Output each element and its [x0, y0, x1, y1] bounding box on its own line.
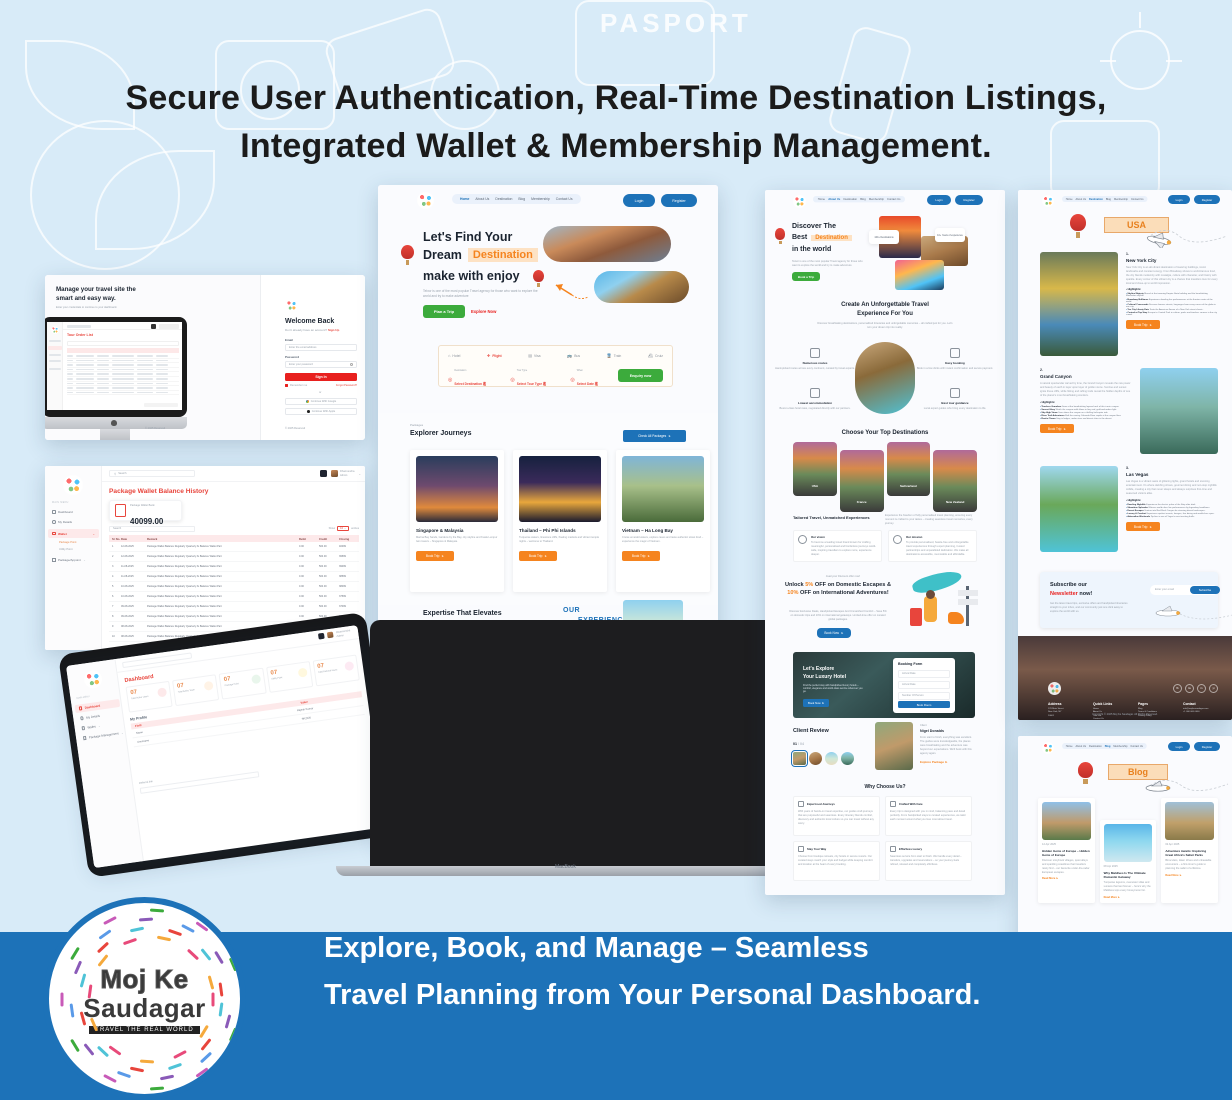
admin-order-list-screen: Tour Order List: [47, 322, 182, 410]
cell-debit: 0.00: [299, 555, 319, 558]
feature-title: Best tour guidance: [915, 401, 995, 405]
review-thumbnail[interactable]: [825, 752, 838, 765]
nav-item-about-us[interactable]: About Us: [1076, 745, 1086, 748]
cell-remark: Package Wallet Balance Regularly Quarter…: [147, 565, 299, 568]
blog-card-title: Why Maldives Is The Ultimate Romantic Ge…: [1104, 871, 1153, 879]
expertise-badge-label-line-1: OUR: [563, 607, 580, 614]
about-booking-form-submit[interactable]: Book Room: [898, 701, 950, 708]
about-destination-card[interactable]: Switzerland: [887, 442, 931, 496]
feature-desc: Book in a few clicks with instant confir…: [915, 367, 995, 371]
login-submit-button[interactable]: Sign In: [285, 373, 357, 381]
usa-entry-button[interactable]: Book Trip➤: [1040, 424, 1074, 433]
search-field-value: Select Destination 襤: [454, 382, 486, 386]
cell-credit: 500.00: [319, 595, 339, 598]
yt-icon[interactable]: yt: [1209, 684, 1218, 693]
usa-highlight-value: Gaze at the breathtaking layered rock of…: [1062, 406, 1119, 408]
login-forgot-link[interactable]: Forgot Password?: [336, 384, 357, 388]
usa-entry-button[interactable]: Book Trip➤: [1126, 522, 1160, 531]
login-password-input[interactable]: Enter your password: [285, 361, 357, 368]
tablet-referral-label: Referral link: [139, 780, 153, 786]
cell-date: 11-08-2025: [121, 565, 147, 568]
blog-card-cta[interactable]: Read More ➤: [1165, 874, 1214, 877]
blog-card[interactable]: 08 Apr 2025Why Maldives Is The Ultimate …: [1100, 820, 1157, 903]
blog-card-date: 02 Apr 2025: [1165, 843, 1214, 847]
booking-form-field-placeholder: Arrival Date: [902, 672, 916, 676]
cell-date: 12-08-2025: [121, 555, 147, 558]
admin-sidebar-item[interactable]: [49, 354, 61, 356]
nav-item-destination[interactable]: Destination: [495, 197, 512, 201]
blog-card-desc: Turquoise lagoons, overwater villas and …: [1104, 881, 1153, 893]
nav-item-membership[interactable]: Membership: [531, 197, 550, 201]
footer-column: Address123 Main StreetNew York, NY10001: [1048, 702, 1083, 720]
usa-highlight-key: Timeless Grandeur: [1041, 406, 1061, 408]
about-review-cta[interactable]: Explore Package ➤: [920, 760, 947, 764]
search-tab-flight[interactable]: ✈Flight: [487, 353, 502, 358]
usa-highlight-value: Venture into Red Rock Canyon for stunnin…: [1144, 510, 1205, 512]
why-choose-card: Expert-Led JourneysWith years of hands-o…: [793, 796, 880, 836]
headline-line-2: Integrated Wallet & Membership Managemen…: [0, 122, 1232, 170]
about-why-title: Why Choose Us?: [765, 784, 1005, 790]
usa-highlight-item: ▪ Broadway Brilliance Experience dazzlin…: [1126, 299, 1218, 303]
about-offer-title-c: OFF on International Adventures!: [800, 590, 889, 596]
login-button[interactable]: Login: [1168, 742, 1190, 751]
login-password-placeholder: Enter your password: [289, 363, 313, 367]
about-booking-form: Booking Form Arrival DateArrival DateNum…: [893, 658, 955, 713]
hero-secondary-cta[interactable]: Explore Now: [471, 309, 496, 314]
package-card-button[interactable]: Book Trip➤: [416, 551, 454, 561]
wallet-sidebar-item-package-management[interactable]: Package/Appoint ⌄: [52, 558, 86, 562]
hot-air-balloon-icon: [533, 270, 544, 287]
usa-entry-desc: A natural spectacular carved by time, th…: [1040, 382, 1132, 398]
eye-icon[interactable]: [350, 363, 353, 366]
admin-screen-title: Tour Order List: [67, 333, 93, 337]
login-apple-button[interactable]: Continue With Apple: [285, 408, 357, 415]
hero-search-cta[interactable]: Enquiry now: [618, 369, 663, 382]
nav-item-home[interactable]: Home: [1066, 745, 1073, 748]
cell-remark: Package Wallet Balance Regularly Quarter…: [147, 585, 299, 588]
about-destination-card-label: Switzerland: [887, 484, 931, 488]
feature-icon: [950, 388, 960, 398]
footer-link[interactable]: Blog: [1138, 708, 1173, 710]
usa-newsletter-submit[interactable]: Subscribe: [1190, 586, 1220, 594]
search-field-label: Tour Type: [517, 369, 546, 372]
usa-highlight-item: ▪ Ten City Liberty Eats Taste the Americ…: [1126, 309, 1218, 311]
wallet-user-avatar[interactable]: [331, 470, 338, 477]
cell-debit: 0.00: [299, 605, 319, 608]
usa-entry-image: [1040, 466, 1118, 552]
arrow-right-icon: ➤: [441, 554, 444, 558]
usa-highlight-item: ▪ Timeless Grandeur Gaze at the breathta…: [1040, 406, 1132, 408]
search-tab-cruiz[interactable]: ⛴Cruiz: [648, 353, 663, 358]
stat-card[interactable]: 07Total Active Team: [172, 674, 219, 706]
cell-debit: 0.00: [299, 595, 319, 598]
about-hero-image-sunset: [895, 260, 944, 290]
blog-card-desc: Binoculars, dawn drives and unbeatable e…: [1165, 859, 1214, 871]
chevron-down-icon[interactable]: ⌄: [358, 472, 361, 476]
about-review-title: Client Review: [793, 728, 829, 734]
in-icon[interactable]: in: [1197, 684, 1206, 693]
footer-column: Contactinfo@mojkesaudagar.com+1 000 000 …: [1183, 702, 1218, 720]
blog-card-desc: Discover storybook villages, quiet alley…: [1042, 859, 1091, 875]
about-destination-card[interactable]: New Zealand: [933, 450, 977, 512]
admin-sidebar-item[interactable]: [49, 340, 61, 342]
admin-login-mockup: Manage your travel site the smart and ea…: [45, 275, 365, 440]
search-field[interactable]: ◎DestinationSelect Destination 襤: [448, 369, 486, 390]
usa-entry-button[interactable]: Book Trip➤: [1126, 320, 1160, 329]
about-destination-card[interactable]: France: [840, 450, 884, 512]
blog-card-cta[interactable]: Read More ➤: [1042, 877, 1091, 880]
about-hotel-paragraph: Find the perfect stay with handpicked lu…: [803, 684, 865, 693]
wallet-table-search-placeholder: Search: [113, 527, 121, 531]
nav-item-about-us[interactable]: About Us: [1076, 198, 1086, 201]
nav-item-contact-us[interactable]: Contact Us: [887, 198, 900, 201]
wallet-sidebar-item-dashboard[interactable]: Dashboard: [52, 510, 73, 514]
usa-newsletter-title-highlight: Newsletter: [1050, 591, 1078, 597]
imac-stand: [100, 429, 130, 440]
wallet-sidebar-label: My Details: [58, 520, 72, 524]
cell-debit: 0.00: [299, 545, 319, 548]
admin-sidebar-item[interactable]: [49, 360, 61, 362]
about-navigation: Home About Us Destination Blog Membershi…: [813, 196, 905, 202]
register-button[interactable]: Register: [1194, 195, 1220, 204]
wallet-balance-value: 40099.00: [130, 517, 163, 526]
usa-highlight-value: Marvel at the towering Empire State buil…: [1126, 293, 1208, 297]
wallet-balance-icon: [115, 504, 126, 517]
blog-page-mockup: Home About Us Destination Blog Membershi…: [1018, 736, 1232, 961]
doodle-sun-ray: [1166, 60, 1182, 62]
nav-item-home[interactable]: Home: [1066, 198, 1073, 201]
usa-newsletter-paragraph: Get the latest travel tips, exclusive of…: [1050, 602, 1128, 614]
about-hero-badge-destinations: 100+ Destinations: [869, 230, 899, 244]
why-card-desc: Seamless service from start to finish. W…: [890, 855, 967, 867]
usa-entry-number: 3.: [1126, 466, 1218, 470]
stat-card[interactable]: 07Total Active Users: [125, 681, 172, 713]
admin-topbar-avatar[interactable]: [151, 324, 156, 329]
package-card[interactable]: Thailand – Phi Phi IslandsTurquoise wate…: [513, 450, 607, 592]
wallet-table-search-input[interactable]: Search: [109, 526, 195, 532]
page-headline: Secure User Authentication, Real-Time De…: [0, 74, 1232, 171]
usa-highlight-value: Experience the electric pulse of the Str…: [1146, 504, 1196, 506]
search-icon: ⚲: [114, 472, 116, 476]
about-section2-title-line-1: Create An Unforgettable Travel: [765, 302, 1005, 308]
about-booking-form-fields: Arrival DateArrival DateNumber Of Person: [898, 670, 950, 703]
packages-cta-button[interactable]: Check All Packages ➤: [623, 430, 686, 442]
login-title: Welcome Back: [285, 318, 334, 325]
about-feature-list: Numerous routesHand-picked routes across…: [775, 348, 995, 428]
booking-form-field[interactable]: Arrival Date: [898, 670, 950, 678]
usa-entry-title: Las Vegas: [1126, 472, 1218, 477]
doodle-sun-ray: [1100, 60, 1116, 62]
nav-item-blog[interactable]: Blog: [1106, 198, 1111, 201]
login-button[interactable]: Login: [623, 194, 655, 207]
nav-item-blog[interactable]: Blog: [860, 198, 865, 201]
admin-sidebar-item-active[interactable]: [48, 346, 62, 350]
usa-highlights-label: › Highlights:: [1040, 401, 1132, 404]
about-destination-card-label: France: [840, 500, 884, 504]
footer-link[interactable]: Contact Us: [1093, 718, 1128, 720]
admin-order-rows: [67, 354, 179, 395]
why-card-title: Expert-Led Journeys: [807, 802, 835, 806]
wallet-table-header: Sr No. Date Remark Debit Credit Closing: [109, 535, 359, 542]
cell-date: 08-08-2025: [121, 625, 147, 628]
package-card[interactable]: Singapore & MalaysiaMarina Bay Sands, Ga…: [410, 450, 504, 592]
about-offer-kicker: Avail your Discount offer now!: [793, 575, 893, 579]
admin-pagination[interactable]: [144, 403, 178, 407]
nav-item-destination[interactable]: Destination: [1089, 745, 1102, 748]
footer-link[interactable]: info@mojkesaudagar.com: [1183, 708, 1218, 710]
feature-title: Lowest accommodation: [775, 401, 855, 405]
why-card-title: Crafted With Care: [899, 802, 923, 806]
nav-item-home[interactable]: Home: [460, 197, 469, 201]
booking-form-field[interactable]: Arrival Date: [898, 681, 950, 689]
booking-form-field[interactable]: Number Of Person: [898, 692, 950, 700]
package-card-title: Singapore & Malaysia: [416, 528, 498, 533]
nav-item-blog[interactable]: Blog: [1105, 745, 1111, 748]
about-offer-illustration: [900, 572, 985, 642]
nav-item-destination[interactable]: Destination: [844, 198, 858, 201]
admin-search-input[interactable]: [67, 325, 91, 328]
login-google-label: Continue With Google: [311, 400, 336, 404]
table-row[interactable]: 112-08-2025Package Wallet Balance Regula…: [109, 542, 359, 552]
arrow-right-icon: ➤: [668, 434, 671, 438]
feature-title: Numerous routes: [775, 361, 855, 365]
footer-link[interactable]: 123 Main Street: [1048, 708, 1083, 710]
review-thumbnail[interactable]: [809, 752, 822, 765]
search-tab-visa[interactable]: ▤Visa: [528, 353, 540, 358]
login-google-button[interactable]: Continue With Google: [285, 398, 357, 405]
column-header: Remark: [147, 537, 299, 541]
home-navigation: Home About Us Destination Blog Membershi…: [452, 194, 581, 204]
stat-card[interactable]: 07Total Referral Users: [312, 654, 359, 686]
search-tab-hotel[interactable]: ⌂Hotel: [448, 353, 460, 358]
blog-card[interactable]: 02 Apr 2025Adventure Awaits: Exploring G…: [1161, 798, 1218, 903]
cell-sr: 4: [109, 575, 121, 578]
usa-footer-social-icons: fbtwinyt: [1173, 684, 1218, 693]
about-review-counter-total: 04: [800, 742, 804, 746]
table-row[interactable]: 709-08-2025Package Wallet Balance Regula…: [109, 602, 359, 612]
blog-card-image: [1104, 824, 1153, 862]
tablet-notification-button[interactable]: [318, 633, 325, 640]
stat-card[interactable]: 07Utility Point: [266, 661, 313, 693]
cell-closing: 38599: [339, 575, 359, 578]
usa-highlight-item: ▪ Cultural Crossroads Discover famous st…: [1126, 304, 1218, 308]
usa-highlight-key: Adrenaline Weekends: [1127, 516, 1150, 518]
about-offer-cta[interactable]: Book Now➤: [817, 628, 851, 638]
wallet-submenu-utility-point[interactable]: Utility Point: [59, 548, 72, 551]
wallet-sidebar-label: Package/Appoint: [58, 558, 81, 562]
why-choose-card: Stay Your WayChoose from boutique retrea…: [793, 841, 880, 881]
blog-card-list: 12 Apr 2025Hidden Gems of Europe – Hidde…: [1038, 798, 1218, 903]
why-card-title: Effortless Luxury: [899, 847, 922, 851]
table-row[interactable]: [67, 391, 179, 396]
about-hotel-cta-label: Book Now: [808, 701, 821, 705]
cell-date: 11-08-2025: [121, 575, 147, 578]
wallet-show-label: Show: [329, 527, 336, 531]
package-icon: [52, 558, 56, 562]
wallet-entries-label: entries: [351, 527, 359, 531]
nav-item-membership[interactable]: Membership: [869, 198, 884, 201]
search-tab-label: Visa: [534, 354, 541, 358]
about-review-name: Nigel Donalds: [920, 729, 944, 733]
nav-item-contact-us[interactable]: Contact Us: [1131, 198, 1144, 201]
search-field-value: Select Tour Type 襤: [517, 382, 546, 386]
nav-item-membership[interactable]: Membership: [1113, 745, 1127, 748]
search-field[interactable]: ◎Tour TypeSelect Tour Type 襤: [510, 369, 546, 390]
about-feature: Lowest accommodationBest-in-class hotel …: [775, 388, 855, 411]
search-tab-train[interactable]: 🚆Train: [607, 353, 622, 358]
wallet-sidebar-item-my-details[interactable]: My Details: [52, 520, 72, 524]
about-feature: Numerous routesHand-picked routes across…: [775, 348, 855, 371]
about-hotel-title-line-1: Let's Explore: [803, 666, 834, 672]
macbook-screen-clip: [378, 628, 718, 856]
tablet-user-avatar[interactable]: [327, 632, 334, 639]
bus-icon: 🚌: [567, 353, 572, 358]
about-hotel-cta[interactable]: Book Now➤: [803, 699, 829, 707]
nav-item-about-us[interactable]: About Us: [475, 197, 489, 201]
nav-item-destination[interactable]: Destination: [1089, 198, 1103, 201]
marker-icon: ◎: [448, 377, 452, 383]
review-thumbnail[interactable]: [793, 752, 806, 765]
login-logo-icon: [285, 299, 298, 312]
usa-logo-icon: [1042, 195, 1054, 207]
wallet-icon: [52, 532, 56, 536]
login-button[interactable]: Login: [927, 195, 951, 205]
wallet-show-select[interactable]: 10⌄: [337, 526, 349, 531]
column-header: Date: [121, 537, 147, 541]
about-offer-cta-label: Book Now: [824, 631, 839, 635]
about-tailored-card: Our visionTo become a leading travel bra…: [793, 530, 882, 562]
nav-item-membership[interactable]: Membership: [1114, 198, 1128, 201]
table-row[interactable]: 212-08-2025Package Wallet Balance Regula…: [109, 552, 359, 562]
about-hero-title-line-3: in the world: [792, 246, 831, 253]
blog-card-date: 08 Apr 2025: [1104, 865, 1153, 869]
cell-sr: 8: [109, 615, 121, 618]
footer-column-title: Pages: [1138, 702, 1173, 706]
usa-highlight-value: Zip-line in one of Vegas's most exciting…: [1151, 516, 1195, 518]
package-card-button[interactable]: Book Trip➤: [519, 551, 557, 561]
package-card-button[interactable]: Book Trip➤: [622, 551, 660, 561]
login-apple-label: Continue With Apple: [312, 410, 336, 414]
tailored-card-title: Our vision: [811, 535, 877, 539]
feature-icon: [810, 388, 820, 398]
login-signup-link[interactable]: Sign Up: [328, 328, 339, 332]
about-review-portrait: [875, 722, 913, 770]
hero-title-line-2: Dream: [423, 248, 462, 262]
tw-icon[interactable]: tw: [1185, 684, 1194, 693]
wallet-sidebar-item-wallet[interactable]: Wallet ⌄: [48, 529, 99, 538]
blog-card-image: [1165, 802, 1214, 840]
footer-column-title: Contact: [1183, 702, 1218, 706]
usa-navigation: Home About Us Destination Blog Membershi…: [1062, 196, 1147, 202]
hot-air-balloon-icon: [1078, 762, 1093, 784]
wallet-submenu-package-point[interactable]: Package Point: [59, 541, 76, 544]
about-offer-title-b: OFF on Domestic Escapes &: [815, 582, 891, 588]
nav-item-home[interactable]: Home: [818, 198, 825, 201]
cell-date: 12-08-2025: [121, 545, 147, 548]
hot-air-balloon-icon: [1070, 214, 1086, 238]
about-feature: Best tour guidanceLocal expert guides wh…: [915, 388, 995, 411]
arrow-right-icon: ➤: [822, 701, 824, 705]
blog-card[interactable]: 12 Apr 2025Hidden Gems of Europe – Hidde…: [1038, 798, 1095, 903]
stat-card[interactable]: 07Package Point: [219, 668, 266, 700]
plane-path-icon: [554, 281, 594, 307]
about-destination-card[interactable]: USA: [793, 442, 837, 496]
nav-item-about-us[interactable]: About Us: [828, 198, 840, 201]
about-review-name-label: Client: [920, 724, 927, 728]
login-email-label: Email: [285, 338, 293, 342]
admin-topbar-user[interactable]: [159, 324, 179, 329]
nav-item-contact-us[interactable]: Contact Us: [556, 197, 573, 201]
usa-entry-desc: Las Vegas is a vibrant oasis of glitteri…: [1126, 480, 1218, 496]
apple-icon: [307, 410, 310, 413]
blog-card-cta[interactable]: Read More ➤: [1104, 896, 1153, 899]
fb-icon[interactable]: fb: [1173, 684, 1182, 693]
usa-highlight-item: ▪ Skyline Majesty Marvel at the towering…: [1126, 293, 1218, 297]
about-review-text: From start to finish, everything was exc…: [920, 736, 976, 755]
about-hero-cta[interactable]: Book a Trip: [792, 272, 820, 281]
cell-remark: Package Wallet Balance Regularly Quarter…: [147, 545, 299, 548]
usa-entry-button-label: Book Trip: [1134, 323, 1147, 327]
plane-trail-icon: [1143, 220, 1229, 248]
table-row[interactable]: 311-08-2025Package Wallet Balance Regula…: [109, 562, 359, 572]
tailored-card-title: Our mission: [906, 535, 972, 539]
review-thumbnail[interactable]: [841, 752, 854, 765]
about-hero-paragraph: Telvor is one of the most popular Travel…: [792, 260, 864, 268]
nav-item-blog[interactable]: Blog: [518, 197, 525, 201]
usa-highlight-item: ▪ River Trail Adventures Raft the roarin…: [1040, 415, 1132, 417]
admin-sidebar-item[interactable]: [49, 368, 61, 370]
register-button[interactable]: Register: [1194, 742, 1220, 751]
cell-debit: 0.00: [299, 565, 319, 568]
table-row[interactable]: 510-08-2025Package Wallet Balance Regula…: [109, 582, 359, 592]
wallet-notification-button[interactable]: [320, 470, 327, 477]
about-offer-paragraph: Discover Exclusive Deals, Handpicked Esc…: [789, 610, 887, 622]
feature-title: Easy booking: [915, 361, 995, 365]
package-card-image: [416, 456, 498, 522]
footer-link[interactable]: Home: [1093, 708, 1128, 710]
login-remember-checkbox[interactable]: [285, 384, 288, 387]
search-field-label: When: [577, 369, 598, 372]
package-card[interactable]: Vietnam – Ha Long BayCruise emerald wate…: [616, 450, 710, 592]
login-email-input[interactable]: Enter the email address: [285, 344, 357, 351]
wallet-search-input[interactable]: ⚲ Search: [109, 470, 195, 477]
about-page-mockup: Home About Us Destination Blog Membershi…: [765, 190, 1005, 895]
about-offer-percent-1: 5%: [805, 582, 813, 588]
search-tab-bus[interactable]: 🚌Bus: [567, 353, 580, 358]
login-button[interactable]: Login: [1168, 195, 1190, 204]
about-offer-percent-2: 10%: [787, 590, 798, 596]
nav-item-contact-us[interactable]: Contact Us: [1130, 745, 1143, 748]
marker-icon: ◎: [570, 377, 574, 383]
visa-icon: ▤: [528, 353, 532, 358]
register-button[interactable]: Register: [661, 194, 697, 207]
hero-paragraph: Telvor is one of the most popular Travel…: [423, 289, 543, 299]
column-header: Closing: [339, 537, 359, 541]
usa-entry: 1.New York CityNew York City is an all-v…: [1040, 252, 1218, 356]
login-remember-label: Remember me: [290, 384, 307, 388]
why-card-desc: Choose from boutique retreats, city hote…: [798, 855, 875, 867]
table-row[interactable]: 610-08-2025Package Wallet Balance Regula…: [109, 592, 359, 602]
tablet-referral-input[interactable]: [140, 771, 260, 794]
search-field[interactable]: ◎WhenSelect Date 襤: [570, 369, 598, 390]
register-button[interactable]: Register: [955, 195, 983, 205]
package-card-desc: Turquoise waters, limestone cliffs, floa…: [519, 536, 601, 544]
hero-primary-cta[interactable]: Plan a Trip: [423, 305, 465, 318]
arrow-right-icon: ➤: [945, 760, 948, 764]
table-row[interactable]: 411-08-2025Package Wallet Balance Regula…: [109, 572, 359, 582]
blog-card-image: [1042, 802, 1091, 840]
package-card-desc: Cruise emerald waters, explore caves and…: [622, 536, 704, 544]
